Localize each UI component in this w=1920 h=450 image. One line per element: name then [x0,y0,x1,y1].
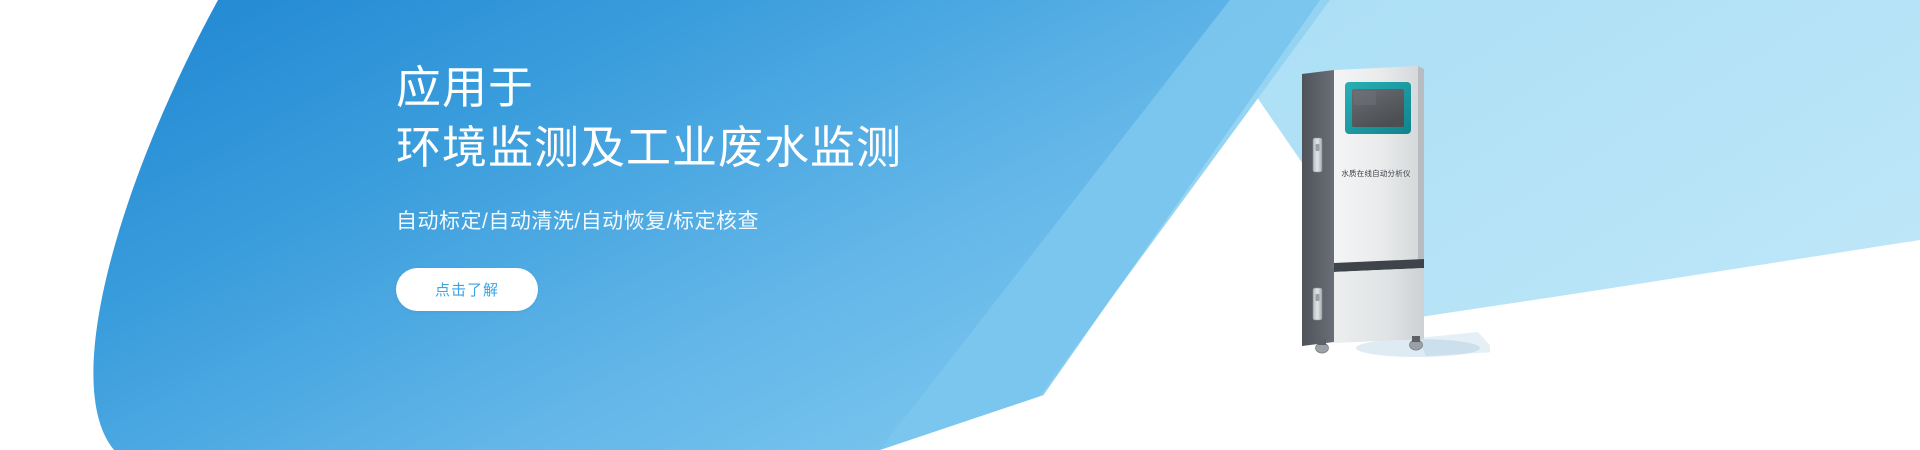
hero-subtitle: 自动标定/自动清洗/自动恢复/标定核查 [396,178,1156,236]
learn-more-button[interactable]: 点击了解 [396,268,538,311]
device-label: 水质在线自动分析仪 [1333,168,1419,179]
caster-left-mount [1318,339,1326,345]
hero-banner: 应用于 环境监测及工业废水监测 自动标定/自动清洗/自动恢复/标定核查 点击了解 [0,0,1920,450]
screen-reflection [1354,91,1376,105]
page-title: 应用于 环境监测及工业废水监测 [396,58,1156,178]
product-image [1300,60,1490,380]
headline-line-1: 应用于 [396,58,1156,118]
upper-door-edge [1418,66,1424,260]
lower-handle [1313,288,1322,320]
upper-lock [1316,144,1320,151]
caster-right-mount [1412,336,1420,342]
headline-line-2: 环境监测及工业废水监测 [396,118,1156,178]
lower-door [1334,268,1424,343]
analyzer-illustration [1300,60,1490,380]
lower-lock [1316,294,1320,301]
cast-shadow [1418,332,1490,356]
upper-handle [1313,138,1322,172]
hero-copy: 应用于 环境监测及工业废水监测 自动标定/自动清洗/自动恢复/标定核查 点击了解 [396,58,1156,311]
